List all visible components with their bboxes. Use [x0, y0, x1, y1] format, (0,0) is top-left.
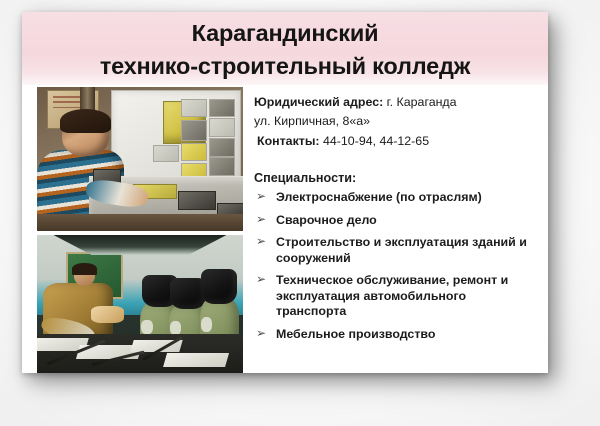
specialty-label: Техническое обслуживание, ремонт и экспл…	[276, 273, 508, 318]
welding-glove	[201, 317, 213, 332]
welding-workpiece	[91, 306, 124, 323]
instructor-hair	[72, 263, 97, 274]
address-line-1: Юридический адрес: г. Караганда	[254, 93, 536, 112]
board-cell	[209, 99, 235, 118]
arrow-bullet-icon: ➢	[256, 234, 266, 250]
slide-title-line-1: Карагандинский	[22, 17, 548, 50]
arrow-bullet-icon: ➢	[256, 326, 266, 342]
student-hair	[60, 109, 112, 133]
arrow-bullet-icon: ➢	[256, 189, 266, 205]
technical-display-board	[111, 90, 241, 190]
board-cell	[181, 143, 207, 162]
slide-title-band: Карагандинский технико-строительный колл…	[22, 12, 548, 85]
arrow-bullet-icon: ➢	[256, 212, 266, 228]
board-cell	[181, 120, 207, 141]
screenshot-canvas: Карагандинский технико-строительный колл…	[0, 0, 600, 426]
specialties-heading: Специальности:	[254, 171, 536, 185]
address-label: Юридический адрес:	[254, 95, 383, 109]
address-block: Юридический адрес: г. Караганда ул. Кирп…	[254, 93, 536, 151]
photo-column	[37, 87, 243, 373]
list-item: ➢ Электроснабжение (по отраслям)	[254, 190, 536, 206]
welding-mask-icon	[201, 269, 237, 304]
specialty-label: Мебельное производство	[276, 327, 435, 341]
board-cell	[209, 118, 235, 137]
table-equipment	[178, 191, 215, 210]
slide-body: Юридический адрес: г. Караганда ул. Кирп…	[22, 85, 548, 373]
welding-glove	[170, 321, 182, 335]
arrow-bullet-icon: ➢	[256, 272, 266, 288]
specialty-label: Электроснабжение (по отраслям)	[276, 190, 482, 204]
specialties-block: Специальности: ➢ Электроснабжение (по от…	[254, 171, 536, 342]
specialty-label: Строительство и эксплуатация зданий и со…	[276, 235, 527, 265]
board-cell	[153, 145, 179, 163]
text-column: Юридический адрес: г. Караганда ул. Кирп…	[254, 93, 536, 349]
contacts-line: Контакты: 44-10-94, 44-12-65	[254, 132, 536, 151]
list-item: ➢ Строительство и эксплуатация зданий и …	[254, 235, 536, 266]
presentation-slide: Карагандинский технико-строительный колл…	[22, 12, 548, 373]
welding-glove	[141, 320, 153, 334]
list-item: ➢ Сварочное дело	[254, 213, 536, 229]
room-floor	[37, 214, 243, 231]
metal-plate	[163, 353, 229, 367]
specialties-list: ➢ Электроснабжение (по отраслям) ➢ Сваро…	[254, 190, 536, 342]
contacts-label: Контакты:	[257, 134, 320, 148]
address-line-2: ул. Кирпичная, 8«а»	[254, 112, 536, 131]
list-item: ➢ Техническое обслуживание, ремонт и экс…	[254, 273, 536, 320]
photo-classroom-electrical-display	[37, 87, 243, 231]
photo-welding-workshop	[37, 235, 243, 373]
specialty-label: Сварочное дело	[276, 213, 377, 227]
contacts-phone-numbers: 44-10-94, 44-12-65	[320, 134, 430, 148]
board-cell	[181, 99, 207, 118]
board-cell	[209, 138, 235, 157]
list-item: ➢ Мебельное производство	[254, 327, 536, 343]
address-city: г. Караганда	[383, 95, 456, 109]
board-cell	[209, 157, 235, 176]
work-bench	[37, 334, 243, 373]
slide-title-line-2: технико-строительный колледж	[22, 50, 548, 83]
